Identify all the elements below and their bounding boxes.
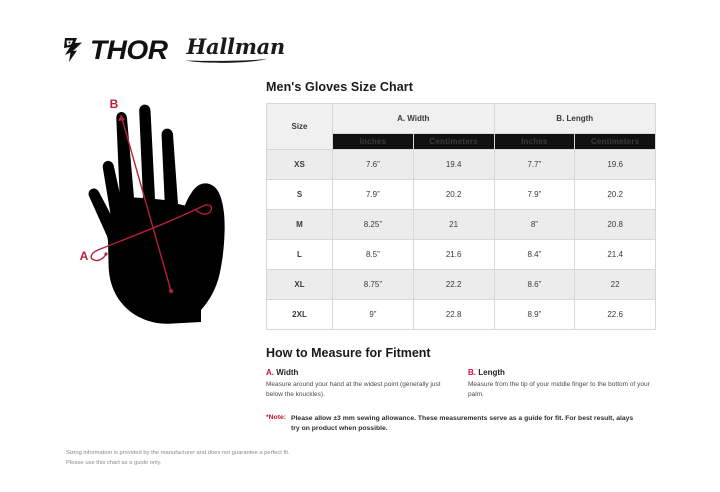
table-row: XS 7.6” 19.4 7.7” 19.6: [267, 150, 656, 180]
cell-width-inches: 7.9”: [333, 180, 414, 210]
disclaimer: Sizing information is provided by the ma…: [66, 448, 290, 468]
cell-size: XL: [267, 270, 333, 300]
measure-length-text: Measure from the tip of your middle fing…: [468, 380, 654, 400]
table-body: XS 7.6” 19.4 7.7” 19.6 S 7.9” 20.2 7.9” …: [267, 150, 656, 330]
cell-width-centimeters: 21.6: [413, 240, 494, 270]
cell-length-centimeters: 19.6: [575, 150, 656, 180]
table-row: M 8.25” 21 8” 20.8: [267, 210, 656, 240]
hallman-logo: Hallman: [183, 36, 289, 64]
cell-length-centimeters: 20.8: [575, 210, 656, 240]
thor-hammer-icon: [62, 36, 88, 64]
cell-size: L: [267, 240, 333, 270]
header-length-inches: Inches: [494, 134, 575, 150]
cell-width-inches: 7.6”: [333, 150, 414, 180]
cell-length-inches: 8”: [494, 210, 575, 240]
cell-length-centimeters: 20.2: [575, 180, 656, 210]
cell-width-centimeters: 22.2: [413, 270, 494, 300]
glove-measurement-diagram: B A: [58, 88, 266, 333]
page-title: Men's Gloves Size Chart: [266, 80, 656, 94]
table-row: XL 8.75” 22.2 8.6” 22: [267, 270, 656, 300]
cell-width-centimeters: 19.4: [413, 150, 494, 180]
cell-length-inches: 8.6”: [494, 270, 575, 300]
diagram-label-a: A: [80, 249, 89, 263]
measure-width-block: A. Width Measure around your hand at the…: [266, 368, 468, 400]
size-chart-table: Size A. Width B. Length Inches Centimete…: [266, 103, 656, 330]
chart-content: Men's Gloves Size Chart Size A. Width B.…: [266, 80, 656, 435]
header-size: Size: [267, 104, 333, 150]
measure-width-heading: A. Width: [266, 368, 468, 377]
brand-logo-bar: THOR Hallman: [62, 30, 289, 70]
hallman-swash-icon: [183, 56, 271, 63]
measure-width-text: Measure around your hand at the widest p…: [266, 380, 452, 400]
cell-length-centimeters: 21.4: [575, 240, 656, 270]
thor-logo: THOR: [62, 36, 165, 64]
cell-width-inches: 8.75”: [333, 270, 414, 300]
size-chart-page: THOR Hallman: [0, 0, 720, 492]
measure-length-name: Length: [478, 368, 505, 377]
cell-width-inches: 9”: [333, 300, 414, 330]
header-group-width: A. Width: [333, 104, 495, 134]
disclaimer-line-2: Please use this chart as a guide only.: [66, 458, 290, 468]
measure-length-heading: B. Length: [468, 368, 656, 377]
table-row: L 8.5” 21.6 8.4” 21.4: [267, 240, 656, 270]
note-row: *Note: Please allow ±3 mm sewing allowan…: [266, 414, 656, 435]
cell-length-inches: 8.4”: [494, 240, 575, 270]
cell-length-inches: 7.9”: [494, 180, 575, 210]
cell-width-inches: 8.25”: [333, 210, 414, 240]
cell-size: XS: [267, 150, 333, 180]
diagram-label-b: B: [110, 97, 119, 111]
disclaimer-line-1: Sizing information is provided by the ma…: [66, 448, 290, 458]
cell-size: S: [267, 180, 333, 210]
note-label: *Note:: [266, 414, 286, 435]
cell-length-centimeters: 22.6: [575, 300, 656, 330]
cell-length-inches: 7.7”: [494, 150, 575, 180]
header-width-centimeters: Centimeters: [413, 134, 494, 150]
table-row: 2XL 9” 22.8 8.9” 22.6: [267, 300, 656, 330]
thor-wordmark: THOR: [90, 37, 167, 64]
measure-section-title: How to Measure for Fitment: [266, 346, 656, 360]
measure-length-letter: B.: [468, 368, 476, 377]
header-width-inches: Inches: [333, 134, 414, 150]
header-length-centimeters: Centimeters: [575, 134, 656, 150]
cell-width-inches: 8.5”: [333, 240, 414, 270]
measure-columns: A. Width Measure around your hand at the…: [266, 368, 656, 400]
note-text: Please allow ±3 mm sewing allowance. The…: [291, 414, 636, 435]
glove-illustration: B A: [58, 88, 266, 333]
header-group-length: B. Length: [494, 104, 656, 134]
measure-width-letter: A.: [266, 368, 274, 377]
cell-size: M: [267, 210, 333, 240]
measure-length-block: B. Length Measure from the tip of your m…: [468, 368, 656, 400]
table-row: S 7.9” 20.2 7.9” 20.2: [267, 180, 656, 210]
table-header-row-groups: Size A. Width B. Length: [267, 104, 656, 134]
cell-width-centimeters: 22.8: [413, 300, 494, 330]
table-head: Size A. Width B. Length Inches Centimete…: [267, 104, 656, 150]
cell-size: 2XL: [267, 300, 333, 330]
cell-width-centimeters: 20.2: [413, 180, 494, 210]
measure-width-name: Width: [276, 368, 298, 377]
cell-length-inches: 8.9”: [494, 300, 575, 330]
cell-length-centimeters: 22: [575, 270, 656, 300]
cell-width-centimeters: 21: [413, 210, 494, 240]
